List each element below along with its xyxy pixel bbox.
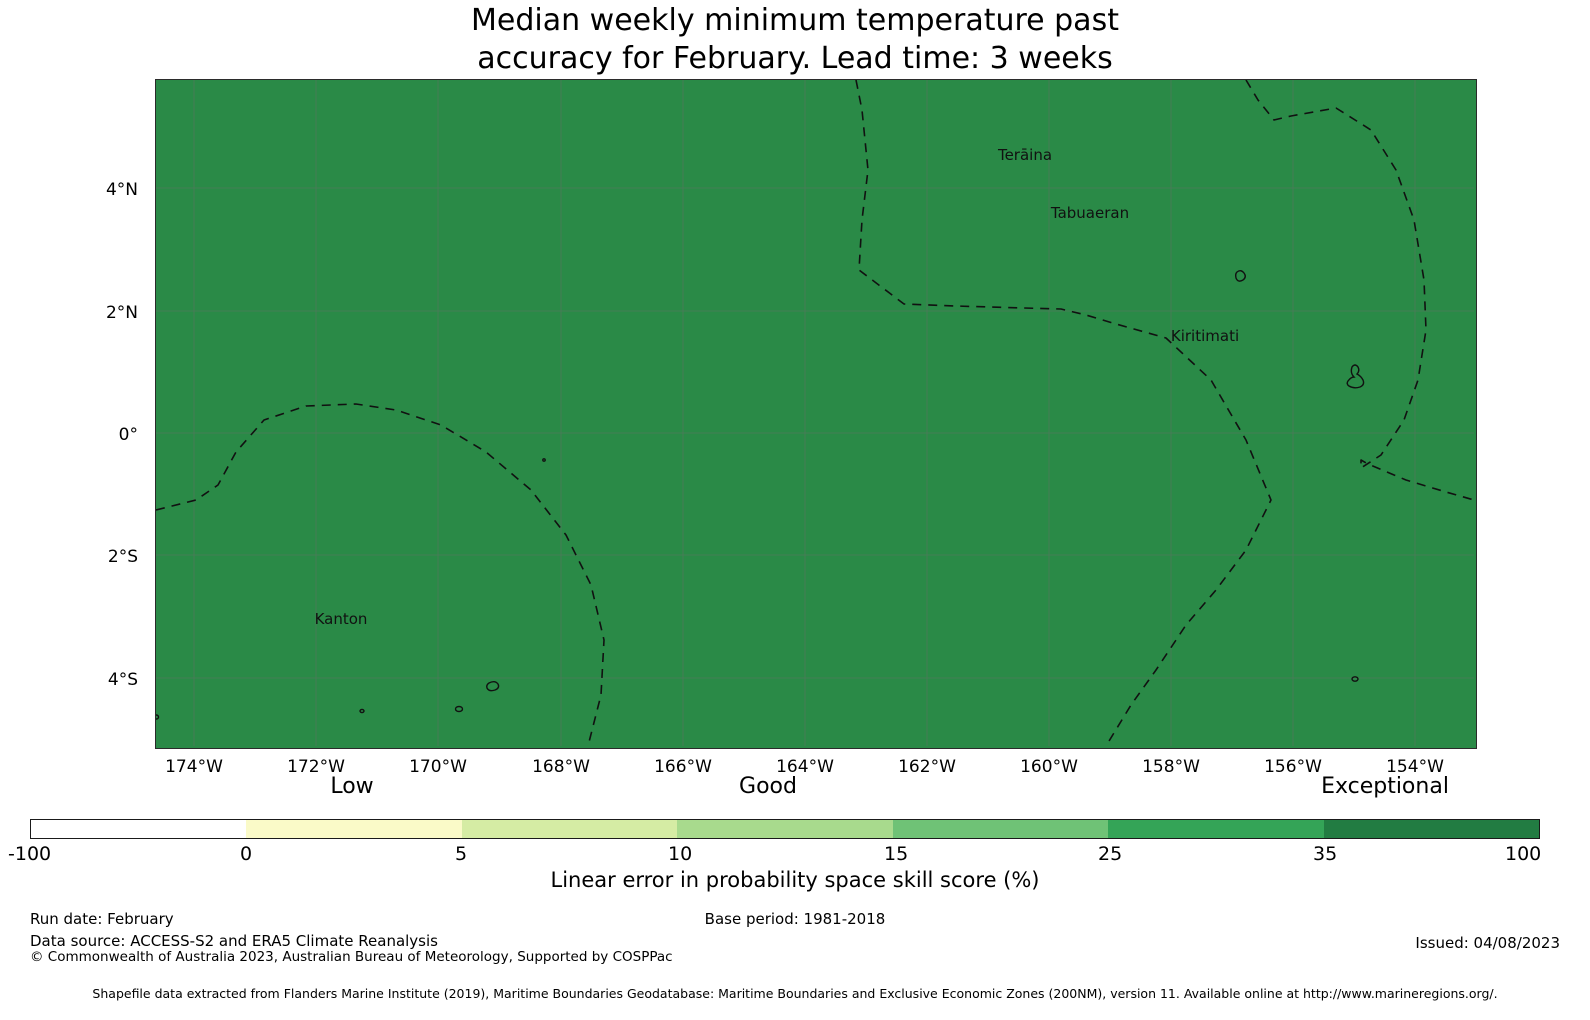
- category-label-low: Low: [330, 774, 373, 799]
- gridlines: [156, 80, 1474, 746]
- small-island-shape-3: [1352, 677, 1358, 681]
- colorbar-segment-5-10[interactable]: [462, 820, 677, 838]
- island-label-teraina: Terāina: [998, 146, 1052, 164]
- colorbar-segment-35-100[interactable]: [1324, 820, 1539, 838]
- x-tick-174w: 174°W: [165, 757, 223, 777]
- island-label-tabuaeran: Tabuaeran: [1051, 204, 1129, 222]
- x-tick-170w: 170°W: [409, 757, 467, 777]
- footer-copyright: © Commonwealth of Australia 2023, Austra…: [30, 949, 673, 965]
- eez-boundaries: [156, 80, 1474, 746]
- x-tick-158w: 158°W: [1142, 757, 1200, 777]
- colorbar-segment-0-5[interactable]: [246, 820, 461, 838]
- small-island-shape-1: [456, 707, 463, 712]
- category-label-good: Good: [739, 774, 797, 799]
- category-label-exceptional: Exceptional: [1321, 774, 1449, 799]
- x-tick-168w: 168°W: [532, 757, 590, 777]
- colorbar-segment-15-25[interactable]: [893, 820, 1108, 838]
- colorbar-segment-25-35[interactable]: [1108, 820, 1323, 838]
- island-label-kanton: Kanton: [315, 610, 368, 628]
- y-tick-4s: 4°S: [0, 670, 138, 690]
- colorbar-segment-neg100-0[interactable]: [31, 820, 246, 838]
- cbar-tick-5: 5: [455, 843, 467, 865]
- y-tick-2s: 2°S: [0, 547, 138, 567]
- cbar-tick-25: 25: [1098, 843, 1122, 865]
- y-tick-0: 0°: [0, 425, 138, 445]
- tabuaeran-island-shape: [1236, 271, 1246, 281]
- small-island-shape-4: [543, 459, 545, 461]
- y-tick-2n: 2°N: [0, 303, 138, 323]
- x-tick-160w: 160°W: [1020, 757, 1078, 777]
- kiritimati-island-shape: [1347, 365, 1363, 388]
- colorbar-segment-10-15[interactable]: [677, 820, 892, 838]
- cbar-tick-35: 35: [1313, 843, 1337, 865]
- footer-base-period: Base period: 1981-2018: [0, 910, 1590, 928]
- cbar-tick-15: 15: [884, 843, 908, 865]
- page-title: Median weekly minimum temperature past a…: [0, 2, 1590, 78]
- colorbar[interactable]: [30, 819, 1540, 839]
- x-tick-166w: 166°W: [654, 757, 712, 777]
- footer-shapefile-attribution: Shapefile data extracted from Flanders M…: [0, 986, 1590, 1001]
- footer-issued: Issued: 04/08/2023: [1415, 934, 1560, 952]
- x-tick-162w: 162°W: [898, 757, 956, 777]
- colorbar-caption: Linear error in probability space skill …: [0, 868, 1590, 892]
- small-island-shape-2: [360, 709, 364, 712]
- x-tick-156w: 156°W: [1264, 757, 1322, 777]
- cbar-tick-100: 100: [1505, 843, 1541, 865]
- map-svg: [156, 80, 1474, 746]
- kanton-island-shape: [487, 682, 499, 691]
- cbar-tick-0: 0: [240, 843, 252, 865]
- small-island-shape-5: [156, 715, 159, 719]
- y-tick-4n: 4°N: [0, 180, 138, 200]
- cbar-tick-neg100: -100: [8, 843, 51, 865]
- island-label-kiritimati: Kiritimati: [1171, 327, 1239, 345]
- cbar-tick-10: 10: [668, 843, 692, 865]
- footer-data-source: Data source: ACCESS-S2 and ERA5 Climate …: [30, 932, 438, 950]
- map-plot-area[interactable]: Terāina Tabuaeran Kiritimati Kanton: [155, 79, 1477, 749]
